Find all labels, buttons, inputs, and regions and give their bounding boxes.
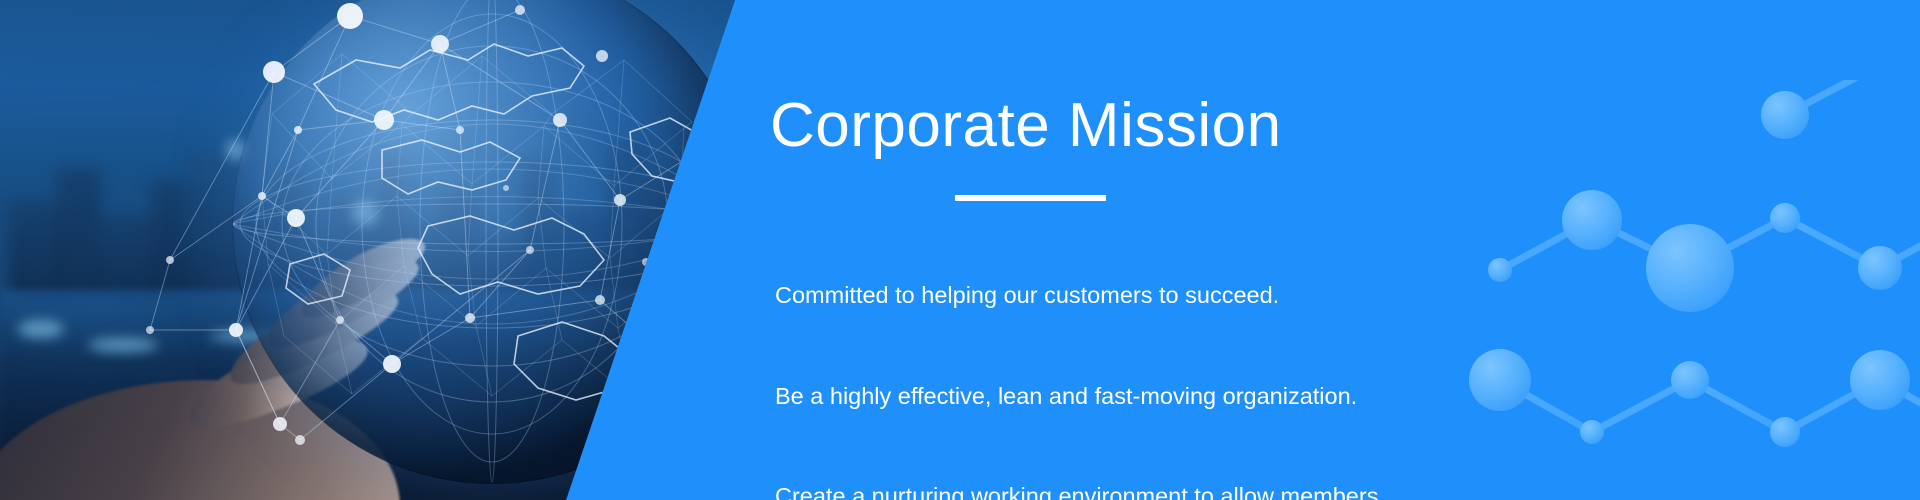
mission-statement: Committed to helping our customers to su… [775, 212, 1378, 500]
title-divider [955, 195, 1106, 201]
mission-line: Committed to helping our customers to su… [775, 279, 1378, 313]
page-title: Corporate Mission [770, 93, 1282, 158]
mission-line: Create a nurturing working environment t… [775, 480, 1378, 500]
corporate-mission-banner: Corporate Mission Committed to helping o… [0, 0, 1920, 500]
banner-content: Corporate Mission Committed to helping o… [770, 0, 1870, 500]
mission-line: Be a highly effective, lean and fast-mov… [775, 380, 1378, 414]
